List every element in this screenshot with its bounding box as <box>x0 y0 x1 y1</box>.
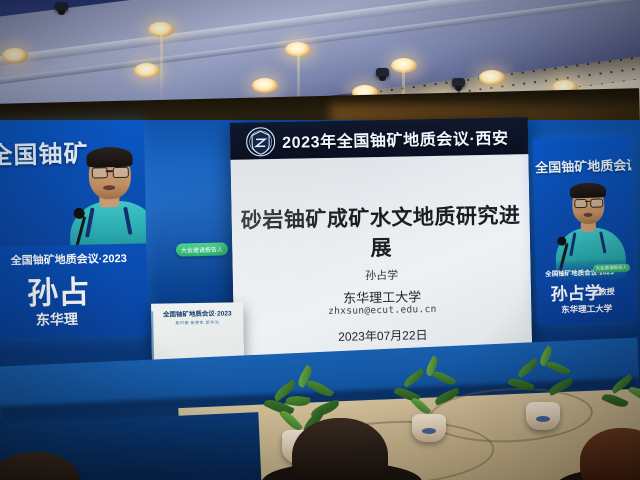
left-screen-speaker-name: 孙占 <box>27 267 90 313</box>
ceiling-camera <box>55 2 68 11</box>
plant-leaf <box>516 358 540 379</box>
slide-author: 孙占学 <box>233 264 531 286</box>
right-screen-speaker-title: 教授 <box>599 286 615 297</box>
plant-leaf <box>402 368 426 388</box>
plant-leaf <box>546 359 571 377</box>
speaker-eyeglasses <box>590 198 603 207</box>
right-led-screen: 全国铀矿地质会议· 全国铀矿地质会议·2023 大会邀请报告人 孙占学 教授 东… <box>532 137 635 325</box>
speaker-eyeglasses <box>113 167 129 178</box>
conference-hall-photo: 全国铀矿 全国铀矿地质会议·2023 孙占 东华理 大会邀 <box>0 0 640 480</box>
potted-plant <box>390 360 464 444</box>
slide-banner-title: 2023年全国铀矿地质会议·西安 <box>282 125 509 153</box>
eyeglass-bridge <box>585 201 590 203</box>
right-screen-wall-header: 全国铀矿地质会议· <box>535 154 636 176</box>
podium-subtitle: 新时期 新使命 新作为 <box>151 319 243 327</box>
plant-leaf <box>547 377 574 396</box>
eyeglass-bridge <box>106 170 113 172</box>
plant-leaf <box>601 391 628 410</box>
left-screen-conference-label: 全国铀矿地质会议·2023 <box>10 250 126 268</box>
right-screen-speaker-org: 东华理工大学 <box>561 302 612 315</box>
speaker-hair <box>86 147 132 168</box>
pot-decoration <box>536 416 550 422</box>
university-shield-emblem-icon <box>246 126 276 158</box>
ceiling-camera <box>376 68 389 77</box>
ceiling-camera <box>452 78 465 87</box>
plant-leaf <box>433 387 460 405</box>
left-screen-speaker-org: 东华理 <box>36 309 78 330</box>
ceiling-downlight <box>2 48 28 63</box>
plant-leaf <box>507 375 534 393</box>
projection-slide: 2023年全国铀矿地质会议·西安 砂岩铀矿成矿水文地质研究进展 孙占学 东华理工… <box>230 117 532 358</box>
left-screen-lower-third: 全国铀矿地质会议·2023 孙占 东华理 <box>0 243 148 338</box>
left-screen-camera-feed: 全国铀矿 <box>0 120 146 251</box>
plant-leaf <box>432 369 457 388</box>
left-led-screen: 全国铀矿 全国铀矿地质会议·2023 孙占 东华理 <box>0 120 148 338</box>
slide-body: 砂岩铀矿成矿水文地质研究进展 孙占学 东华理工大学 zhxsun@ecut.ed… <box>230 154 532 358</box>
plant-leaf <box>306 377 335 399</box>
speaker-figure <box>70 142 146 251</box>
speaker-eyeglasses <box>92 167 108 178</box>
slide-header-band: 2023年全国铀矿地质会议·西安 <box>230 117 529 160</box>
slide-title: 砂岩铀矿成矿水文地质研究进展 <box>231 199 530 265</box>
ceiling-downlight <box>479 70 505 85</box>
ceiling-downlight <box>252 78 278 93</box>
audience-head <box>292 418 388 480</box>
light-beam <box>160 34 163 104</box>
right-screen-invited-badge: 大会邀请报告人 <box>592 264 630 273</box>
ceiling-downlight <box>134 63 160 78</box>
speaker-hair <box>570 182 606 198</box>
potted-plant <box>506 352 576 432</box>
invited-speaker-badge: 大会邀请报告人 <box>176 242 228 256</box>
plant-leaf <box>628 384 640 404</box>
podium-title: 全国铀矿地质会议·2023 <box>151 307 243 319</box>
pot-decoration <box>422 428 436 434</box>
right-screen-speaker-name: 孙占学 <box>550 279 602 305</box>
right-screen-lower-third: 全国铀矿地质会议·2023 大会邀请报告人 孙占学 教授 东华理工大学 <box>536 260 636 325</box>
